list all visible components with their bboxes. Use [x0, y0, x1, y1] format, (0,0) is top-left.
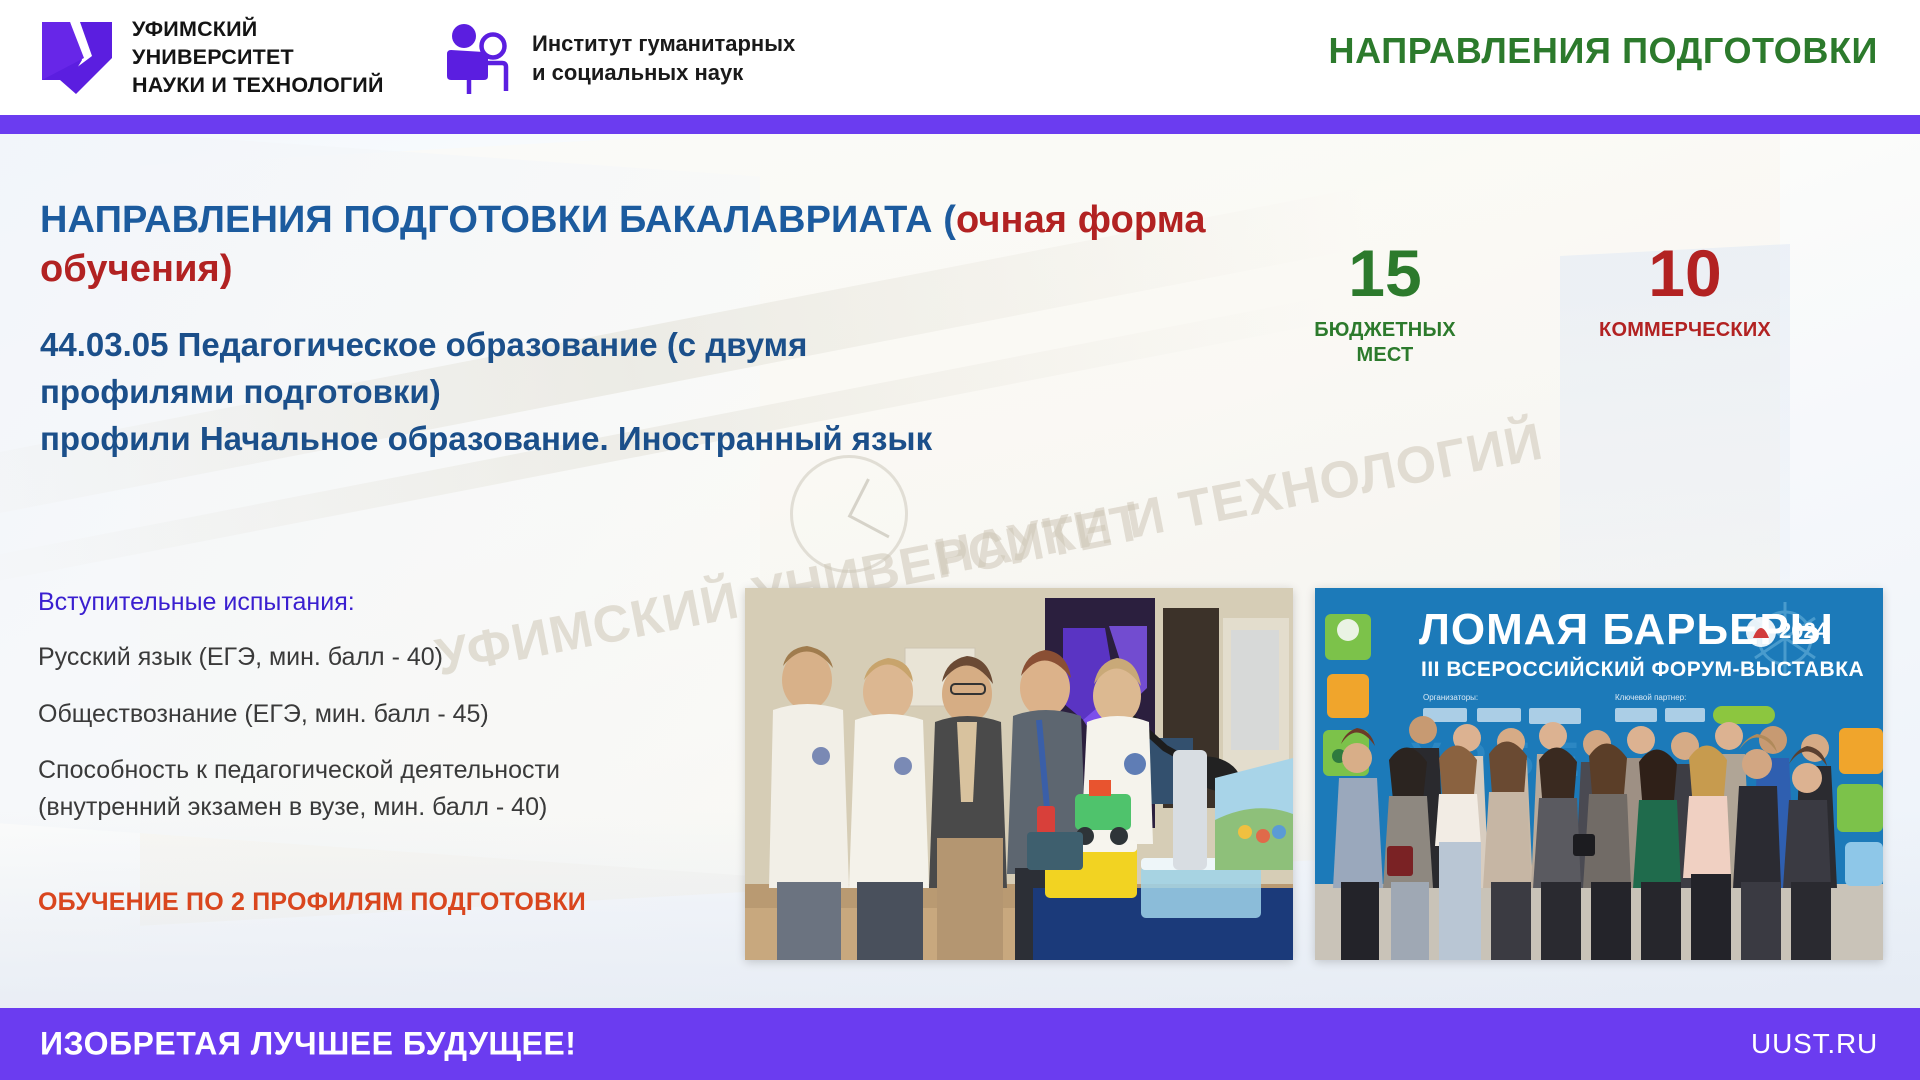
exam-item-social-studies: Обществознание (ЕГЭ, мин. балл - 45)	[38, 696, 738, 733]
svg-text:Организаторы:: Организаторы:	[1423, 693, 1478, 702]
svg-text:2024: 2024	[1779, 618, 1829, 643]
slide-footer: ИЗОБРЕТАЯ ЛУЧШЕЕ БУДУЩЕЕ! UUST.RU	[0, 1008, 1920, 1080]
footer-slogan: ИЗОБРЕТАЯ ЛУЧШЕЕ БУДУЩЕЕ!	[40, 1026, 576, 1063]
program-name-line-3: профили Начальное образование. Иностранн…	[40, 416, 1240, 463]
page-title-tail: )	[220, 248, 233, 290]
university-name-line-1: УФИМСКИЙ	[132, 16, 384, 44]
exam-item-pedagogical-ability: Способность к педагогической деятельност…	[38, 752, 738, 789]
header-purple-rule	[0, 115, 1920, 134]
page-title-primary: НАПРАВЛЕНИЯ ПОДГОТОВКИ БАКАЛАВРИАТА (	[40, 199, 956, 241]
stat-commercial-label-line-1: КОММЕРЧЕСКИХ	[1590, 318, 1780, 343]
admission-stats: 15 БЮДЖЕТНЫХ МЕСТ 10 КОММЕРЧЕСКИХ	[1290, 240, 1890, 368]
photo-robotics-exhibition	[745, 588, 1293, 960]
two-people-icon	[440, 22, 514, 94]
stat-budget-label-line-1: БЮДЖЕТНЫХ	[1290, 318, 1480, 343]
university-name-line-3: НАУКИ И ТЕХНОЛОГИЙ	[132, 72, 384, 100]
program-name: 44.03.05 Педагогическое образование (с д…	[40, 322, 1240, 463]
stat-commercial-label: КОММЕРЧЕСКИХ	[1590, 318, 1780, 343]
section-title: НАПРАВЛЕНИЯ ПОДГОТОВКИ	[1329, 30, 1879, 72]
university-name: УФИМСКИЙ УНИВЕРСИТЕТ НАУКИ И ТЕХНОЛОГИЙ	[132, 16, 384, 100]
page-title: НАПРАВЛЕНИЯ ПОДГОТОВКИ БАКАЛАВРИАТА (очн…	[40, 196, 1220, 293]
university-name-line-2: УНИВЕРСИТЕТ	[132, 44, 384, 72]
entrance-exams-heading: Вступительные испытания:	[38, 588, 738, 617]
institute-name: Институт гуманитарных и социальных наук	[532, 29, 795, 87]
training-profiles-note: ОБУЧЕНИЕ ПО 2 ПРОФИЛЯМ ПОДГОТОВКИ	[38, 888, 586, 917]
exam-item-russian: Русский язык (ЕГЭ, мин. балл - 40)	[38, 639, 738, 676]
stat-commercial-value: 10	[1590, 240, 1780, 306]
photo-robotics-exhibition-image	[745, 588, 1293, 960]
stat-commercial-places: 10 КОММЕРЧЕСКИХ	[1590, 240, 1780, 368]
presentation-slide: УФИМСКИЙ УНИВЕРСИТЕТ НАУКИ И ТЕХНОЛОГИЙ …	[0, 0, 1920, 1080]
program-name-line-1: 44.03.05 Педагогическое образование (с д…	[40, 322, 1240, 369]
stat-budget-label-line-2: МЕСТ	[1290, 343, 1480, 368]
background-clock-icon	[790, 455, 908, 573]
svg-text:Ключевой партнер:: Ключевой партнер:	[1615, 693, 1686, 702]
entrance-exams-block: Вступительные испытания: Русский язык (Е…	[38, 588, 738, 845]
university-logo-block: УФИМСКИЙ УНИВЕРСИТЕТ НАУКИ И ТЕХНОЛОГИЙ	[40, 16, 384, 100]
stat-budget-places: 15 БЮДЖЕТНЫХ МЕСТ	[1290, 240, 1480, 368]
stat-budget-value: 15	[1290, 240, 1480, 306]
program-name-line-2: профилями подготовки)	[40, 369, 1240, 416]
slide-header: УФИМСКИЙ УНИВЕРСИТЕТ НАУКИ И ТЕХНОЛОГИЙ …	[0, 0, 1920, 115]
photo-forum-lomaya-barery: ЛОМАЯ БАРЬЕРЫ III ВСЕРОССИЙСКИЙ ФОРУМ-ВЫ…	[1315, 588, 1883, 960]
institute-name-line-2: и социальных наук	[532, 58, 795, 87]
photo-forum-image: ЛОМАЯ БАРЬЕРЫ III ВСЕРОССИЙСКИЙ ФОРУМ-ВЫ…	[1315, 588, 1883, 960]
institute-logo-block: Институт гуманитарных и социальных наук	[440, 22, 795, 94]
stat-budget-label: БЮДЖЕТНЫХ МЕСТ	[1290, 318, 1480, 368]
footer-website[interactable]: UUST.RU	[1751, 1028, 1878, 1060]
exam-item-pedagogical-ability-detail: (внутренний экзамен в вузе, мин. балл - …	[38, 789, 738, 826]
uust-logo-icon	[40, 18, 114, 98]
svg-text:III ВСЕРОССИЙСКИЙ ФОРУМ-ВЫСТАВ: III ВСЕРОССИЙСКИЙ ФОРУМ-ВЫСТАВКА	[1421, 657, 1864, 681]
institute-name-line-1: Институт гуманитарных	[532, 29, 795, 58]
